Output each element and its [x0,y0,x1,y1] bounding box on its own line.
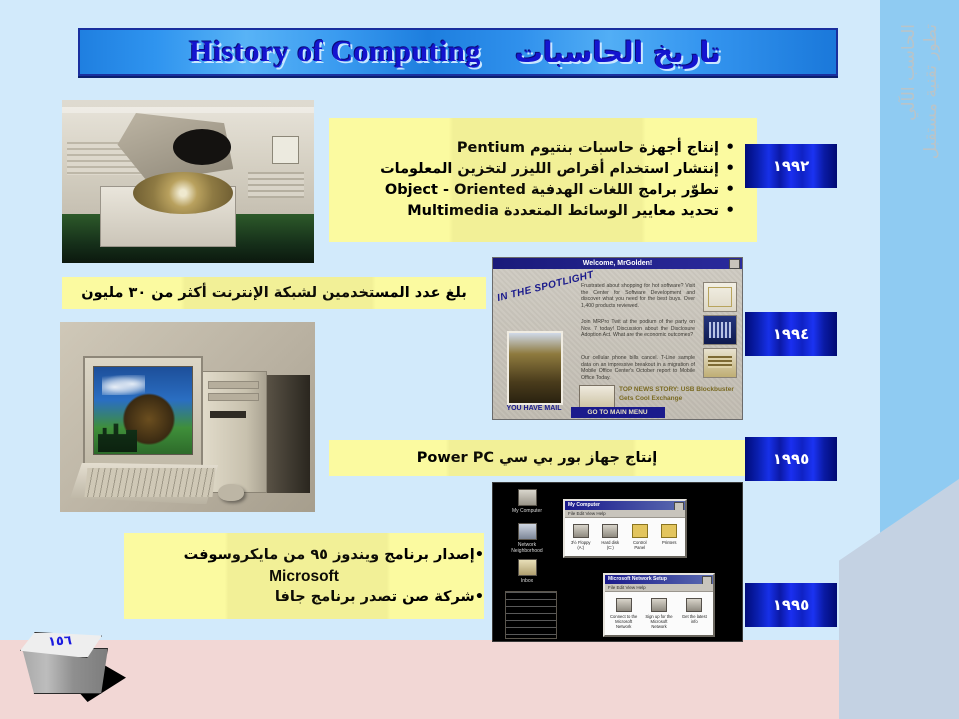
photo-windows95-desktop: My Computer Network Neighborhood Inbox M… [492,482,743,642]
info-icon [686,598,702,612]
win95-window-a-titlebar: My Computer [565,501,685,510]
photo-cdrom-badge [272,136,299,164]
photo-cdrom-vents-right [248,172,303,198]
slide-canvas: History of Computing تاريخ الحاسبات تطور… [0,0,959,719]
web-main-menu-button: GO TO MAIN MENU [571,407,665,418]
win95-window-a-title: My Computer [568,502,600,508]
win95-file-label: Hard disk (C:) [601,540,619,550]
web-spotlight-image [507,331,563,405]
harddisk-icon [602,524,618,538]
content-line: •إصدار برنامج ويندوز ٩٥ من مايكروسوفت [124,545,484,566]
list-item: إنتشار استخدام أقراص الليزر لتخزين المعل… [329,159,735,180]
photo-desktop-computer [60,322,315,512]
list-item: إنتاج أجهزة حاسبات بنتيوم Pentium [329,138,735,159]
photo-web-portal-screenshot: Welcome, MrGolden! IN THE SPOTLIGHT YOU … [492,257,743,420]
photo-pc-screen [93,366,192,455]
content-box-1992: إنتاج أجهزة حاسبات بنتيوم Pentium إنتشار… [329,118,757,242]
win95-file-label: Sign up for the Microsoft Network [645,614,672,629]
content-line: •شركة صن تصدر برنامج جافا [124,587,484,608]
win95-icon-label: Network Neighborhood [511,542,542,554]
photo-pc-screen-landscape [98,417,137,452]
page-title-en: History of Computing [189,35,481,69]
win95-file-item: Printers [658,524,682,550]
win95-window-msn-setup: Microsoft Network Setup File Edit View H… [603,573,715,637]
page-number-keycap: ١٥٦ [18,630,128,708]
bullet-list-1992: إنتاج أجهزة حاسبات بنتيوم Pentium إنتشار… [329,138,757,222]
win95-file-label: Connect to the Microsoft Network [610,614,637,629]
inbox-icon [518,559,537,576]
web-window-close-icon [729,259,740,269]
year-badge-1995-powerpc: ١٩٩٥ [745,437,837,481]
content-text-1995-powerpc: إنتاج جهاز بور بي سي Power PC [329,448,745,468]
win95-desktop-icon-network: Network Neighborhood [507,523,547,554]
web-paragraph-3: Our cellular phone bills cancel. T-Line … [581,355,695,381]
my-computer-icon [518,489,537,506]
photo-cdrom-disc [133,172,234,214]
win95-file-label: 3½ Floppy (A:) [571,540,591,550]
network-neighborhood-icon [518,523,537,540]
photo-pc-front-panel [210,411,246,418]
web-house-icon [703,282,737,312]
win95-file-label: Control Panel [633,540,647,550]
photo-pc-tower-shadow [264,375,310,493]
win95-file-item: 3½ Floppy (A:) [569,524,593,550]
win95-file-label: Get the latest info [682,614,707,624]
photo-cdrom-drive [62,100,314,263]
win95-icon-label: My Computer [512,508,542,514]
win95-file-item: Get the latest info [680,598,709,629]
win95-window-b-content: Connect to the Microsoft Network Sign up… [605,592,713,635]
win95-taskbar-panel [505,591,557,639]
slide-title-banner: History of Computing تاريخ الحاسبات [78,28,838,76]
web-spotlight-heading: IN THE SPOTLIGHT [496,274,584,327]
year-badge-1995-windows: ١٩٩٥ [745,583,837,627]
web-folder-icon [703,348,737,378]
control-panel-icon [632,524,648,538]
content-line: Microsoft [124,566,484,587]
list-item: تطوّر برامج اللغات الهدفية Object - Orie… [329,180,735,201]
win95-file-item: Control Panel [628,524,652,550]
list-item: تحديد معايير الوسائط المتعددة Multimedia [329,201,735,222]
photo-cdrom-aperture [173,129,231,165]
printers-icon [661,524,677,538]
win95-window-b-title: Microsoft Network Setup [608,576,667,582]
web-mail-label: YOU HAVE MAIL [501,405,567,412]
win95-window-a-content: 3½ Floppy (A:) Hard disk (C:) Control Pa… [565,518,685,556]
win95-window-my-computer: My Computer File Edit View Help 3½ Flopp… [563,499,687,558]
win95-icon-label: Inbox [521,578,533,584]
win95-window-a-menubar: File Edit View Help [565,510,685,518]
content-box-1995-windows: •إصدار برنامج ويندوز ٩٥ من مايكروسوفت Mi… [124,533,484,619]
bottom-strip-background [0,640,880,719]
web-news-headline: TOP NEWS STORY: USB Blockbuster Gets Coo… [619,385,737,403]
photo-pc-keyboard-keys [84,468,214,497]
year-badge-1994: ١٩٩٤ [745,312,837,356]
web-window-title: Welcome, MrGolden! [583,260,653,267]
sidebar-text-line-2: الحاسب الآلي [899,24,919,121]
win95-desktop-icon-my-computer: My Computer [507,489,547,514]
year-badge-1992: ١٩٩٢ [745,144,837,188]
win95-window-b-close-icon [702,576,712,584]
web-paragraph-2: Join MRPro Twit at the podium of the par… [581,319,695,339]
win95-window-b-menubar: File Edit View Help [605,584,713,592]
web-paragraph-1: Frustrated about shopping for hot softwa… [581,283,695,309]
web-chart-icon [703,315,737,345]
content-text-1994: بلغ عدد المستخدمين لشبكة الإنترنت أكثر م… [62,283,486,303]
win95-file-item: Connect to the Microsoft Network [609,598,638,629]
photo-pc-drive-slot [208,381,259,389]
photo-pc-screen-clouds [102,375,145,394]
content-box-1994: بلغ عدد المستخدمين لشبكة الإنترنت أكثر م… [62,277,486,309]
content-lines-1995-windows: •إصدار برنامج ويندوز ٩٥ من مايكروسوفت Mi… [124,545,484,608]
win95-window-a-close-icon [674,502,684,510]
floppy-icon [573,524,589,538]
content-box-1995-powerpc: إنتاج جهاز بور بي سي Power PC [329,440,745,476]
sidebar-text-line-1: تطور تقنية مستقبل [921,24,941,159]
win95-window-b-titlebar: Microsoft Network Setup [605,575,713,584]
signup-icon [651,598,667,612]
win95-file-label: Printers [662,540,676,545]
connect-icon [616,598,632,612]
win95-desktop-icon-inbox: Inbox [507,559,547,584]
sidebar-vertical-text: تطور تقنية مستقبل الحاسب الآلي [880,0,959,640]
page-title-ar: تاريخ الحاسبات [515,36,721,69]
web-window-titlebar: Welcome, MrGolden! [493,258,742,269]
win95-file-item: Sign up for the Microsoft Network [644,598,673,629]
photo-pc-mouse [218,484,244,501]
photo-pc-drive-slot-2 [208,393,259,401]
web-window-body: IN THE SPOTLIGHT YOU HAVE MAIL Frustrate… [493,269,742,419]
win95-file-item: Hard disk (C:) [599,524,623,550]
